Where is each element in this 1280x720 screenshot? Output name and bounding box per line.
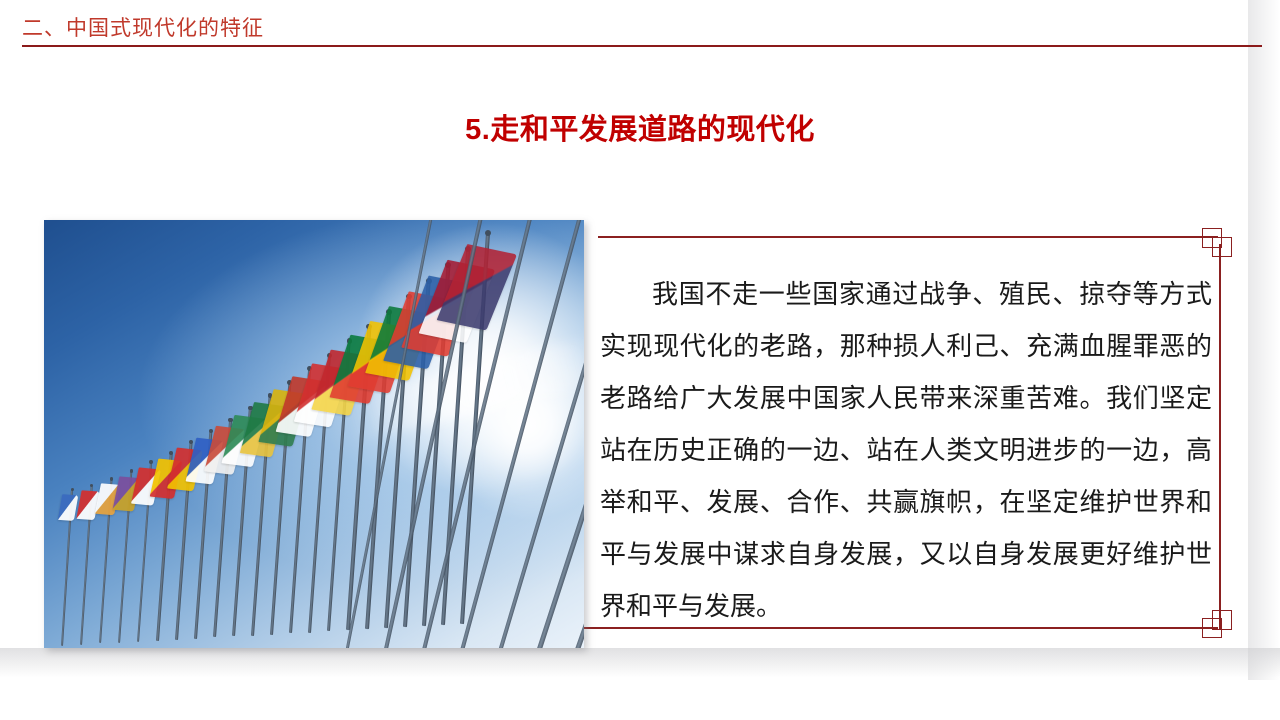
page-title: 5.走和平发展道路的现代化 — [0, 113, 1280, 148]
corner-ornament-top-right — [1202, 228, 1238, 264]
section-header-title: 二、中国式现代化的特征 — [22, 18, 264, 39]
pole-finial — [110, 477, 113, 480]
frame-line-top — [598, 236, 1218, 238]
pole-finial — [169, 451, 173, 455]
section-header-rule — [22, 45, 1262, 47]
pole-finial — [130, 469, 134, 473]
ornament-square-inner — [1212, 610, 1232, 630]
page-bottom-shadow — [0, 648, 1280, 678]
frame-line-right — [1219, 244, 1221, 629]
flags-photo — [44, 220, 584, 648]
pole-finial — [71, 488, 74, 491]
page-right-shadow — [1248, 0, 1280, 680]
content-paragraph: 我国不走一些国家通过战争、殖民、掠夺等方式实现现代化的老路，那种损人利己、充满血… — [600, 268, 1212, 632]
ornament-square-inner — [1212, 237, 1232, 257]
section-header: 二、中国式现代化的特征 — [0, 0, 1280, 50]
